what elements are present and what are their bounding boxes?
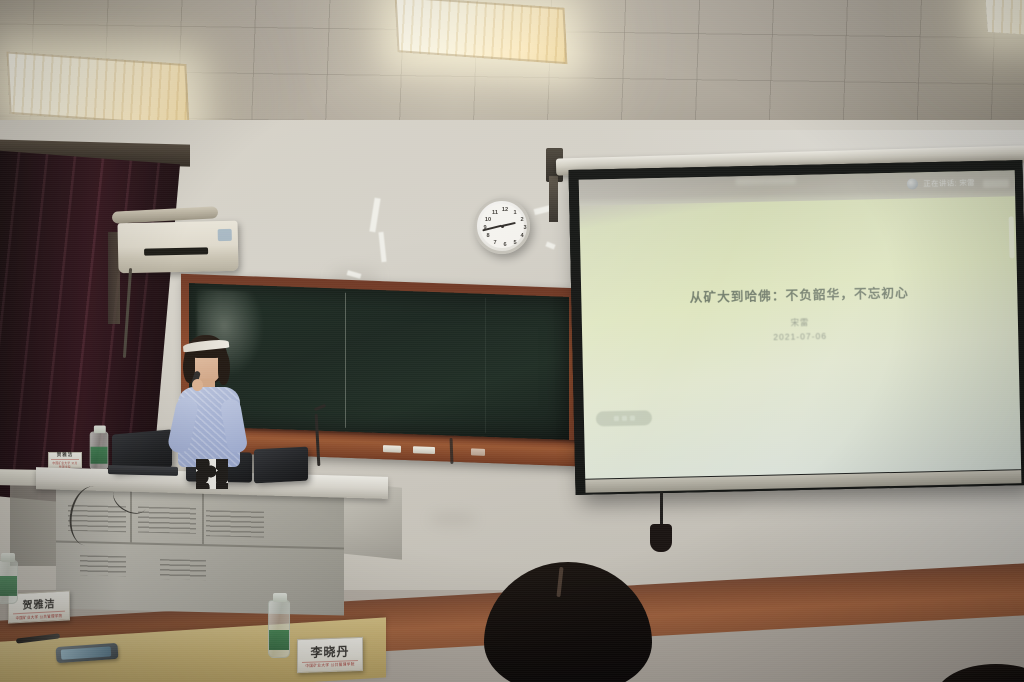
speaking-status-label: 正在讲话: 宋雷	[923, 177, 975, 189]
placard-subtitle-text: 中国矿业大学 公共管理学院	[13, 610, 65, 620]
clock-number: 2	[518, 218, 526, 224]
water-bottle-front-left	[0, 560, 18, 604]
podium-vent	[160, 559, 206, 580]
chalkboard-seam	[345, 293, 346, 427]
presentation-scrollbar[interactable]	[1009, 216, 1015, 258]
clock-number: 12	[501, 208, 509, 214]
microphone-avatar-icon	[907, 178, 918, 189]
air-conditioner-unit	[117, 221, 238, 274]
clock-number: 7	[491, 241, 499, 247]
bottle-label	[269, 630, 289, 650]
badge-dot-icon	[621, 416, 626, 421]
placard-subtitle-text: 中国矿业大学 公共管理学院	[302, 660, 357, 669]
projection-screen: 正在讲话: 宋雷 从矿大到哈佛：不负韶华，不忘初心 宋雷 2021-07-06	[569, 160, 1024, 495]
screen-surface: 正在讲话: 宋雷 从矿大到哈佛：不负韶华，不忘初心 宋雷 2021-07-06	[579, 170, 1021, 478]
hair-parting	[556, 567, 563, 597]
clock-number: 5	[511, 241, 519, 247]
podium-vent	[206, 510, 264, 537]
screen-wall-bracket-lower	[549, 176, 558, 222]
clock-hour-hand	[502, 222, 516, 227]
placard-podium: 贺雅洁 中国矿业大学 公共管理学院	[48, 452, 82, 468]
water-bottle-front	[268, 600, 290, 658]
podium-panel-seam	[56, 540, 344, 549]
badge-dot-icon	[629, 416, 634, 421]
wall-smudge	[430, 512, 476, 526]
placard-name-text: 贺雅洁	[57, 452, 74, 458]
slide-corner-badge[interactable]	[596, 410, 652, 426]
bottle-cap	[273, 593, 287, 602]
bottle-label	[0, 576, 17, 596]
clock-number: 1	[511, 211, 519, 217]
name-placard-2: 李晓丹 中国矿业大学 公共管理学院	[297, 637, 363, 673]
topbar-ghost-text	[736, 177, 796, 185]
water-bottle-podium	[90, 431, 109, 470]
podium-vent	[138, 506, 196, 533]
podium-panel-seam	[202, 492, 204, 544]
bottle-cap	[1, 553, 15, 562]
speaker-skirt	[196, 459, 228, 489]
badge-dot-icon	[613, 416, 618, 421]
speaker-hair-right	[218, 351, 230, 385]
clock-center-pin	[501, 225, 504, 228]
bottle-label	[91, 447, 108, 464]
chalk-piece	[413, 446, 435, 454]
speaker-person	[166, 335, 278, 485]
chalkboard-seam	[485, 298, 486, 432]
clock-number: 6	[501, 243, 509, 249]
placard-name-text: 贺雅洁	[23, 595, 56, 612]
podium-vent	[80, 555, 126, 576]
topbar-window-controls-icon	[983, 179, 1009, 188]
wall-clock: 12 1 2 3 4 5 6 7 8 9 10 11	[474, 198, 530, 254]
placard-name-text: 李晓丹	[310, 642, 349, 660]
bottle-cap	[94, 426, 106, 434]
phone-screen	[61, 646, 112, 659]
chalk-piece	[471, 448, 485, 456]
slide-title: 从矿大到哈佛：不负韶华，不忘初心	[581, 279, 1017, 308]
lecture-hall-photo: 正在讲话: 宋雷 从矿大到哈佛：不负韶华，不忘初心 宋雷 2021-07-06 …	[0, 0, 1024, 682]
audience-head-right	[936, 664, 1024, 682]
speaker-hand	[192, 379, 203, 391]
screen-pull-handle[interactable]	[650, 524, 672, 552]
ac-display-icon	[218, 229, 232, 241]
slide-content: 从矿大到哈佛：不负韶华，不忘初心 宋雷 2021-07-06	[581, 279, 1018, 345]
clock-number: 3	[521, 226, 529, 232]
chalk-piece	[383, 445, 401, 453]
ac-vent	[144, 247, 208, 255]
clock-number: 10	[484, 218, 492, 224]
clock-number: 8	[484, 234, 492, 240]
clock-face: 12 1 2 3 4 5 6 7 8 9 10 11	[480, 204, 524, 248]
light-frame	[7, 52, 190, 127]
ceiling-light-panel-left	[7, 52, 190, 127]
clock-number: 11	[491, 211, 499, 217]
speaking-status-chip: 正在讲话: 宋雷	[907, 177, 975, 189]
clock-number: 4	[518, 234, 526, 240]
